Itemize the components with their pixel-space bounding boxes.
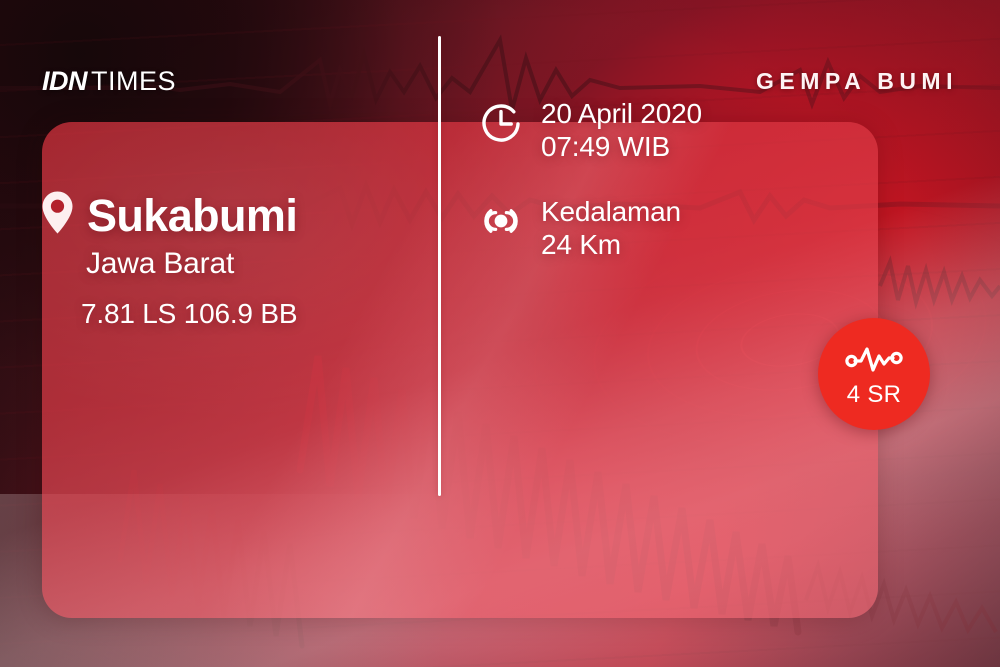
location-block: Sukabumi Jawa Barat 7.81 LS 106.9 BB	[41, 190, 297, 330]
depth-row: Kedalaman 24 Km	[477, 195, 681, 261]
location-coordinates: 7.81 LS 106.9 BB	[41, 298, 297, 330]
datetime-row: 20 April 2020 07:49 WIB	[477, 97, 702, 163]
magnitude-badge: 4 SR	[818, 318, 930, 430]
epicenter-icon	[477, 198, 525, 251]
depth-value: 24 Km	[541, 228, 681, 261]
header-kicker: GEMPA BUMI	[756, 68, 958, 95]
location-province: Jawa Barat	[41, 247, 297, 281]
location-city: Sukabumi	[87, 193, 297, 238]
seismograph-pulse-icon	[843, 342, 905, 381]
depth-label: Kedalaman	[541, 195, 681, 228]
earthquake-time: 07:49 WIB	[541, 130, 702, 163]
earthquake-infographic: IDNTIMES GEMPA BUMI Sukabumi Jawa Barat …	[0, 0, 1000, 667]
logo-idn-text: IDN	[42, 66, 87, 96]
magnitude-value: 4 SR	[847, 383, 902, 407]
card-divider	[438, 36, 441, 496]
idn-times-logo[interactable]: IDNTIMES	[42, 66, 176, 97]
logo-times-text: TIMES	[91, 66, 176, 96]
earthquake-date: 20 April 2020	[541, 97, 702, 130]
clock-icon	[477, 100, 525, 153]
map-pin-icon	[41, 190, 74, 240]
